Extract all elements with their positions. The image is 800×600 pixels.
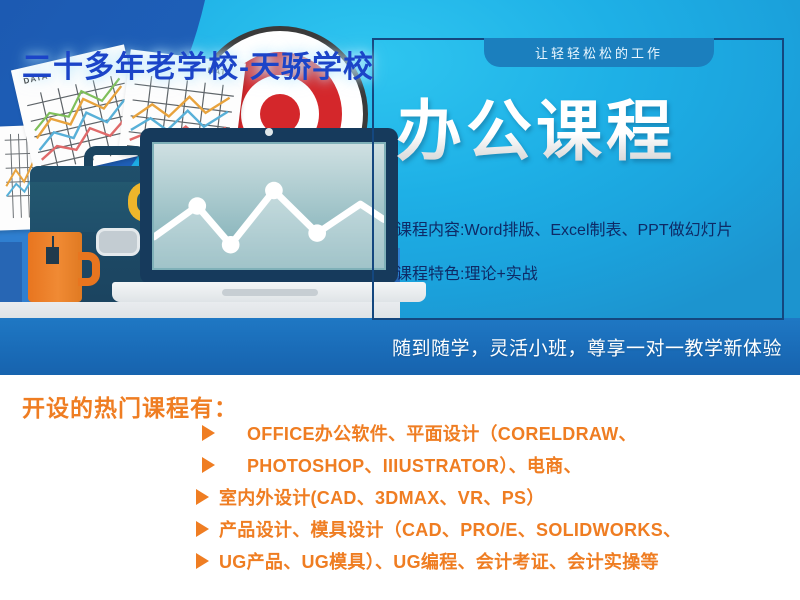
hero-bottom-band: 随到随学，灵活小班，尊享一对一教学新体验 [0, 318, 800, 375]
tea-bag-tag [46, 247, 59, 264]
list-item: PHOTOSHOP、IIIUSTRATOR）、电商、 [0, 449, 800, 481]
list-item: UG产品、UG模具）、UG编程、会计考证、会计实操等 [0, 545, 800, 577]
tagline-tab-label: 让轻轻松松的工作 [535, 43, 663, 62]
mug-handle [78, 252, 100, 286]
triangle-bullet-icon [196, 521, 209, 537]
course-title: 办公课程 [396, 78, 676, 174]
list-item: 产品设计、模具设计（CAD、PRO/E、SOLIDWORKS、 [0, 513, 800, 545]
school-name-heading: 二十多年老学校-天骄学校 [22, 42, 374, 86]
triangle-bullet-icon [196, 489, 209, 505]
laptop-screen [152, 142, 386, 270]
background-block-left-dark [0, 242, 22, 302]
list-item-label: OFFICE办公软件、平面设计（CORELDRAW、 [247, 420, 637, 446]
course-feature-line: 课程特色:理论+实战 [396, 260, 538, 284]
line-chart-icon [154, 144, 384, 268]
list-item: OFFICE办公软件、平面设计（CORELDRAW、 [0, 417, 800, 449]
triangle-bullet-icon [202, 425, 215, 441]
course-content-line: 课程内容:Word排版、Excel制表、PPT做幻灯片 [396, 216, 733, 240]
laptop-camera [265, 128, 273, 136]
course-list: OFFICE办公软件、平面设计（CORELDRAW、 PHOTOSHOP、III… [0, 417, 800, 577]
briefcase-lock [96, 228, 140, 256]
hero-band-text: 随到随学，灵活小班，尊享一对一教学新体验 [392, 333, 782, 360]
triangle-bullet-icon [202, 457, 215, 473]
promo-banner: DATA DATA [0, 0, 800, 600]
list-item: 室内外设计(CAD、3DMAX、VR、PS） [0, 481, 800, 513]
list-item-label: 产品设计、模具设计（CAD、PRO/E、SOLIDWORKS、 [219, 516, 681, 542]
list-item-label: PHOTOSHOP、IIIUSTRATOR）、电商、 [247, 452, 582, 478]
tagline-tab: 让轻轻松松的工作 [484, 38, 714, 67]
list-item-label: UG产品、UG模具）、UG编程、会计考证、会计实操等 [219, 548, 659, 574]
hero-section: DATA DATA [0, 0, 800, 375]
course-list-section: 开设的热门课程有： OFFICE办公软件、平面设计（CORELDRAW、 PHO… [0, 375, 800, 600]
course-info-panel: 让轻轻松松的工作 办公课程 课程内容:Word排版、Excel制表、PPT做幻灯… [372, 38, 784, 320]
triangle-bullet-icon [196, 553, 209, 569]
laptop-trackpad-notch [222, 289, 318, 296]
illustration-ground [0, 302, 400, 318]
list-item-label: 室内外设计(CAD、3DMAX、VR、PS） [219, 484, 545, 510]
coffee-mug-icon [28, 232, 82, 302]
